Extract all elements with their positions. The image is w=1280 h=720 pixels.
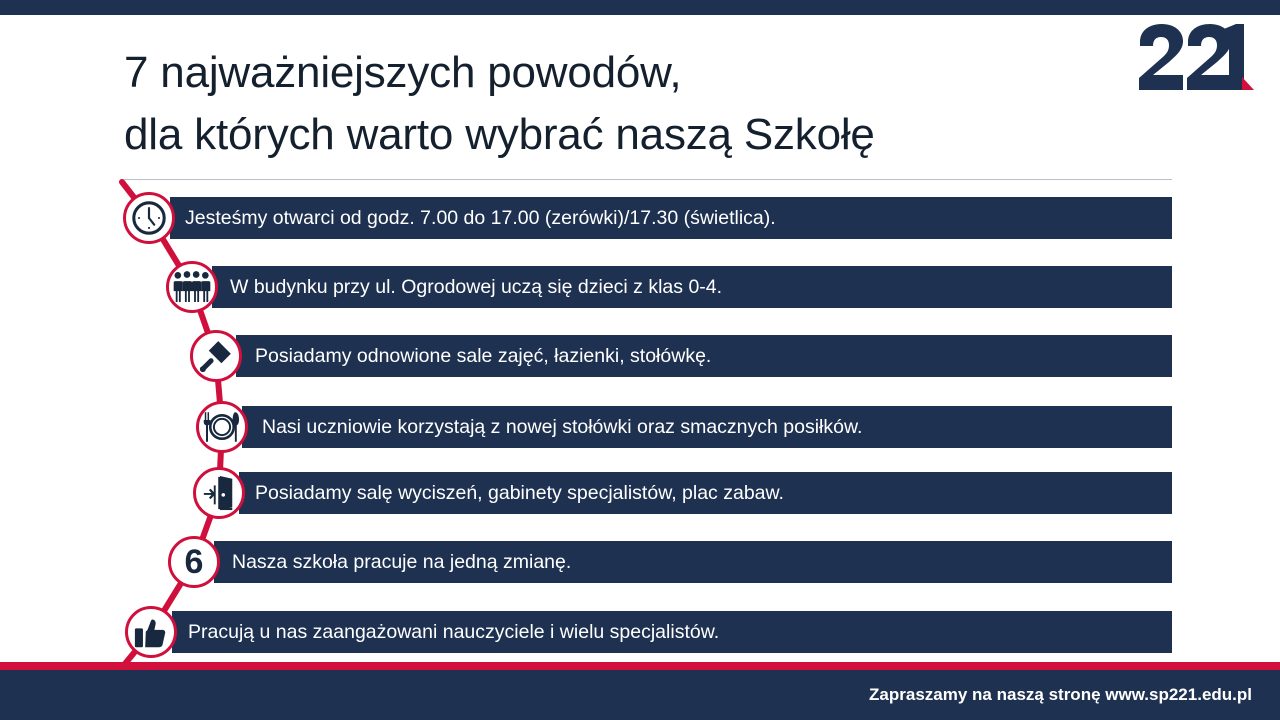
list-item: Posiadamy salę wyciszeń, gabinety specja… bbox=[0, 472, 1280, 514]
reason-text: W budynku przy ul. Ogrodowej uczą się dz… bbox=[230, 266, 722, 308]
reason-text: Nasi uczniowie korzystają z nowej stołów… bbox=[262, 406, 862, 448]
reasons-list: Jesteśmy otwarci od godz. 7.00 do 17.00 … bbox=[0, 0, 1280, 720]
number-one-label: 6 bbox=[185, 545, 204, 579]
reason-text: Posiadamy odnowione sale zajęć, łazienki… bbox=[255, 335, 711, 377]
list-item: Nasza szkoła pracuje na jedną zmianę. 6 bbox=[0, 541, 1280, 583]
footer-website-text: Zapraszamy na naszą stronę www.sp221.edu… bbox=[869, 670, 1252, 720]
cutlery-plate-icon bbox=[196, 401, 248, 453]
list-item: Posiadamy odnowione sale zajęć, łazienki… bbox=[0, 335, 1280, 377]
list-item: Pracują u nas zaangażowani nauczyciele i… bbox=[0, 611, 1280, 653]
reason-text: Posiadamy salę wyciszeń, gabinety specja… bbox=[255, 472, 784, 514]
list-item: Nasi uczniowie korzystają z nowej stołów… bbox=[0, 406, 1280, 448]
door-exit-icon bbox=[193, 467, 245, 519]
number-one-icon: 6 bbox=[168, 536, 220, 588]
reason-text: Pracują u nas zaangażowani nauczyciele i… bbox=[188, 611, 719, 653]
clock-icon bbox=[123, 192, 175, 244]
list-item: W budynku przy ul. Ogrodowej uczą się dz… bbox=[0, 266, 1280, 308]
footer-red-strip bbox=[0, 662, 1280, 670]
thumbs-up-icon bbox=[125, 606, 177, 658]
slide: 7 najważniejszych powodów, dla których w… bbox=[0, 0, 1280, 720]
reason-text: Jesteśmy otwarci od godz. 7.00 do 17.00 … bbox=[185, 197, 776, 239]
list-item: Jesteśmy otwarci od godz. 7.00 do 17.00 … bbox=[0, 197, 1280, 239]
paint-roller-icon bbox=[190, 330, 242, 382]
reason-text: Nasza szkoła pracuje na jedną zmianę. bbox=[232, 541, 571, 583]
people-group-icon bbox=[166, 261, 218, 313]
